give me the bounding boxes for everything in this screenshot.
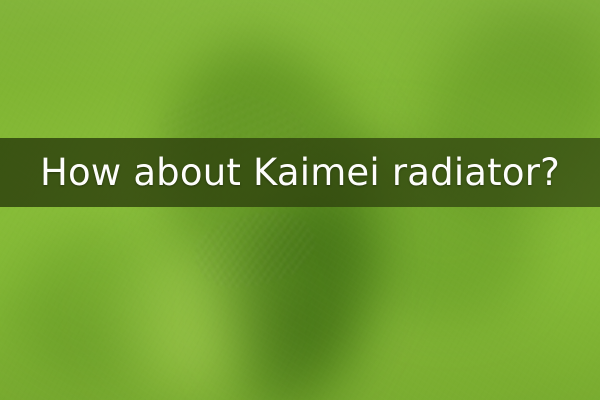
banner-caption: How about Kaimei radiator?	[40, 154, 560, 191]
caption-band: How about Kaimei radiator?	[0, 138, 600, 207]
banner: How about Kaimei radiator?	[0, 0, 600, 400]
